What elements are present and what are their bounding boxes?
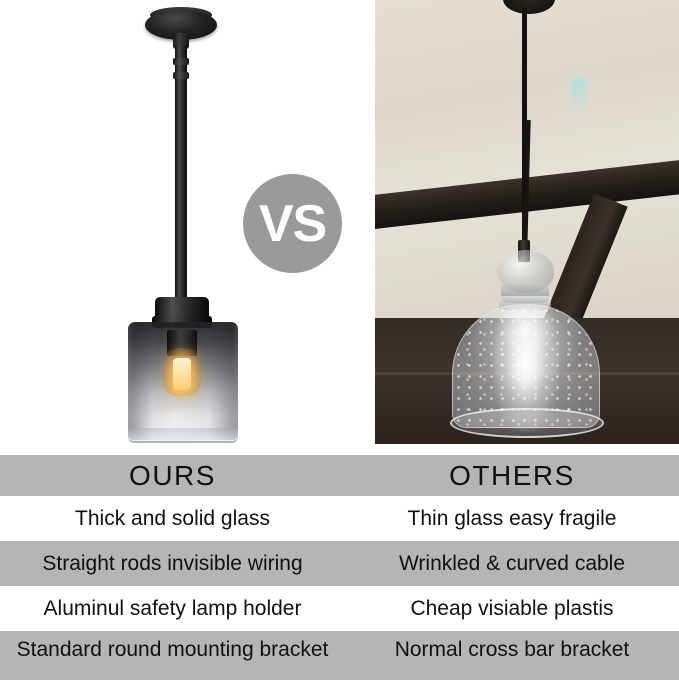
teal-light-reflection	[571, 78, 587, 114]
straight-rod-icon	[175, 45, 187, 303]
comparison-image-area: VS	[0, 0, 679, 450]
table-row: Aluminul safety lamp holder Cheap visiab…	[0, 586, 679, 631]
vs-badge: VS	[243, 174, 342, 273]
header-ours: OURS	[0, 455, 345, 496]
rod-joint-icon	[173, 58, 189, 65]
bulb-filament-icon	[173, 358, 191, 390]
vs-badge-label: VS	[259, 198, 326, 250]
cell-ours-feature-2: Straight rods invisible wiring	[0, 541, 345, 586]
others-product-photo	[375, 0, 679, 444]
cell-others-feature-4: Normal cross bar bracket	[345, 631, 679, 669]
table-header-row: OURS OTHERS	[0, 455, 679, 496]
comparison-table: OURS OTHERS Thick and solid glass Thin g…	[0, 450, 679, 679]
cell-ours-feature-1: Thick and solid glass	[0, 496, 345, 541]
shade-bottom-rim	[128, 428, 238, 443]
cell-ours-feature-3: Aluminul safety lamp holder	[0, 586, 345, 631]
cell-ours-feature-4: Standard round mounting bracket	[0, 631, 345, 669]
header-others: OTHERS	[345, 455, 679, 496]
rod-joint-icon	[173, 72, 189, 79]
dome-bottom-rim	[450, 408, 604, 438]
cell-others-feature-2: Wrinkled & curved cable	[345, 541, 679, 586]
cell-others-feature-3: Cheap visiable plastis	[345, 586, 679, 631]
table-row: Standard round mounting bracket Normal c…	[0, 631, 679, 680]
cell-others-feature-1: Thin glass easy fragile	[345, 496, 679, 541]
table-row: Thick and solid glass Thin glass easy fr…	[0, 496, 679, 541]
table-row: Straight rods invisible wiring Wrinkled …	[0, 541, 679, 586]
